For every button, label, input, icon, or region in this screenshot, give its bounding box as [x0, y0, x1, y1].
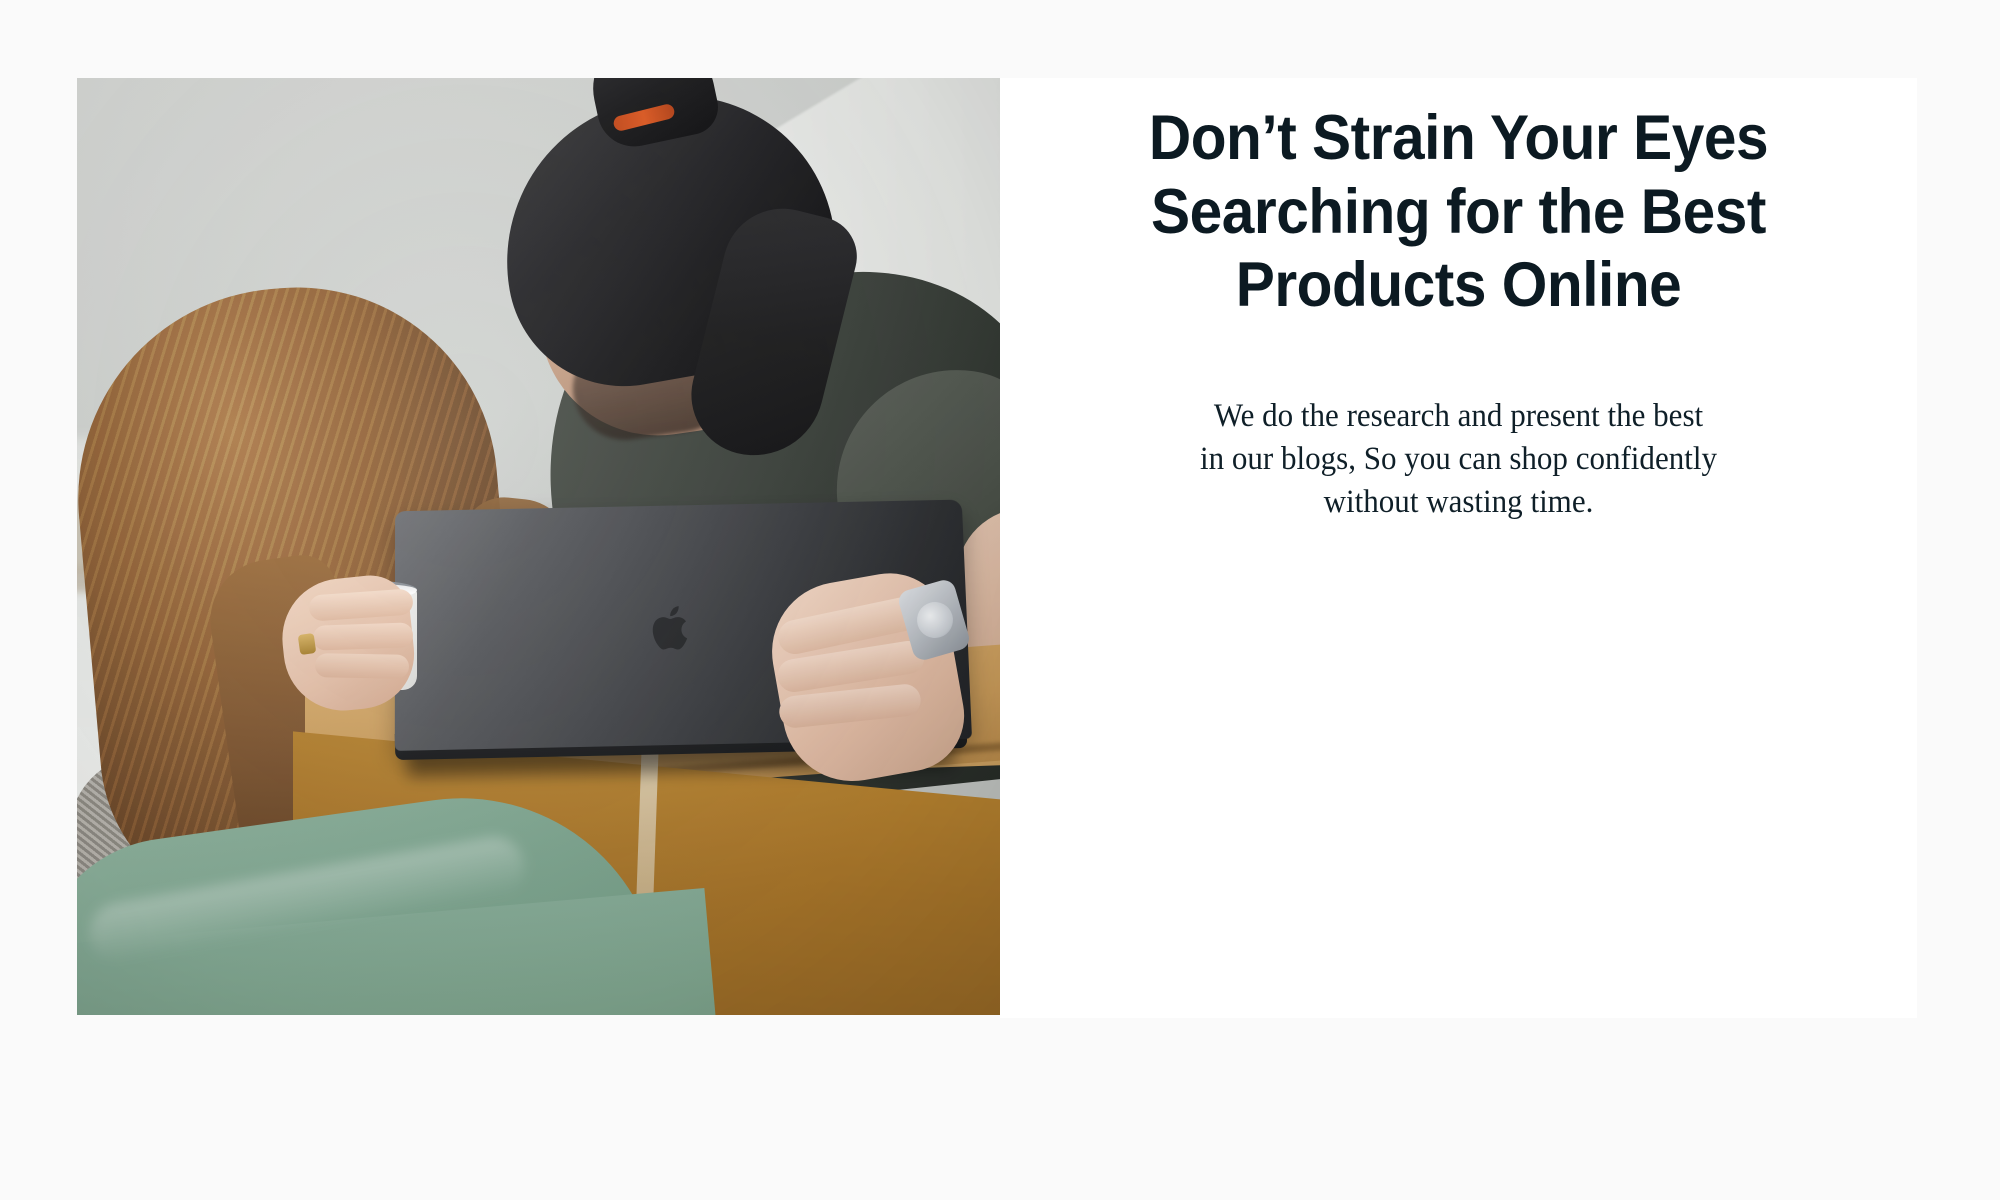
subcopy-line-2: in our blogs, So you can shop confidentl… [1200, 441, 1717, 477]
page-title: Don’t Strain Your Eyes Searching for the… [1032, 78, 1885, 323]
woman-finger [313, 622, 414, 650]
finger-ring [298, 633, 317, 655]
headline-line-2: Searching for the Best [1151, 177, 1766, 247]
hero-image [77, 78, 1000, 1015]
hero-section: Don’t Strain Your Eyes Searching for the… [0, 0, 2000, 1200]
subcopy-line-3: without wasting time. [1324, 484, 1594, 520]
subcopy-line-1: We do the research and present the best [1214, 398, 1703, 434]
content-panel: Don’t Strain Your Eyes Searching for the… [1000, 78, 1917, 1018]
photo-scene [77, 78, 1000, 1015]
woman-finger [315, 653, 409, 679]
headline-line-1: Don’t Strain Your Eyes [1149, 103, 1768, 173]
apple-logo-icon [651, 602, 695, 654]
hero-subcopy: We do the research and present the best … [1028, 323, 1890, 524]
headline-line-3: Products Online [1236, 250, 1682, 320]
hero-text-block: Don’t Strain Your Eyes Searching for the… [1000, 78, 1917, 524]
